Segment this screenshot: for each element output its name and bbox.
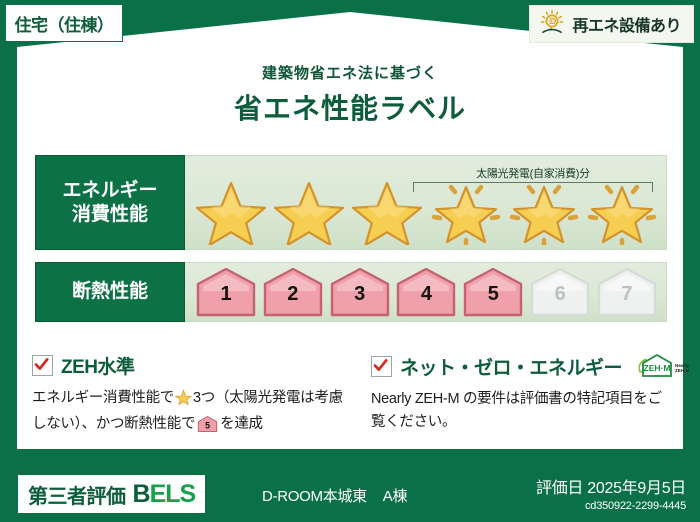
energy-label-line1: エネルギー — [62, 179, 157, 203]
insulation-level-6-number: 6 — [529, 284, 591, 304]
evaluation-code: cd350922-2299-4445 — [536, 500, 686, 512]
net-zero-heading: ネット・ゼロ・エネルギー ZEH·M Nearly ZEH-M — [371, 352, 670, 380]
bels-logo: BELS — [133, 480, 196, 509]
insulation-level-1-number: 1 — [195, 284, 257, 304]
building-unit: A棟 — [383, 488, 407, 505]
energy-performance-row: エネルギー 消費性能 太陽光発電(自家消費)分 — [35, 155, 667, 250]
insulation-level-2: 2 — [262, 267, 324, 317]
checkbox-checked-icon — [371, 356, 392, 377]
insulation-level-5: 5 — [462, 267, 524, 317]
insulation-level-7-number: 7 — [596, 284, 658, 304]
star-1 — [193, 173, 269, 245]
star-3 — [349, 173, 425, 245]
building-type-tag-label: 住宅（住棟） — [15, 11, 114, 36]
insulation-level-5-number: 5 — [462, 284, 524, 304]
inline-star-icon — [175, 393, 192, 409]
insulation-level-3: 3 — [329, 267, 391, 317]
building-name: D-ROOM本城東 — [262, 488, 367, 505]
zeh-m-logo-icon: ZEH·M Nearly ZEH-M — [635, 352, 689, 380]
insulation-label-line1: 断熱性能 — [72, 280, 148, 304]
energy-performance-label-box: エネルギー 消費性能 — [35, 155, 185, 250]
building-name-block: D-ROOM本城東A棟 — [262, 485, 407, 506]
star-4-solar — [428, 173, 504, 245]
insulation-performance-row: 断熱性能 1 2 — [35, 262, 667, 322]
insulation-level-4: 4 — [395, 267, 457, 317]
inline-insulation-badge-icon: 5 — [197, 415, 218, 441]
zeh-standard-title: ZEH水準 — [61, 352, 135, 379]
bels-logo-b: B — [133, 480, 150, 508]
insulation-level-6: 6 — [529, 267, 591, 317]
net-zero-title: ネット・ゼロ・エネルギー — [400, 353, 622, 380]
bels-logo-els: ELS — [150, 480, 196, 508]
bels-certification-box: 第三者評価 BELS — [18, 475, 205, 513]
insulation-performance-label-box: 断熱性能 — [35, 262, 185, 322]
net-zero-energy-note: ネット・ゼロ・エネルギー ZEH·M Nearly ZEH-M Nearly Z… — [351, 352, 670, 441]
notes-section: ZEH水準 エネルギー消費性能で3つ（太陽光発電は考慮しない）、かつ断熱性能で5… — [32, 352, 670, 441]
svg-text:ZEH-M: ZEH-M — [675, 368, 689, 373]
page-title: 省エネ性能ラベル — [0, 87, 700, 127]
insulation-level-1: 1 — [195, 267, 257, 317]
zeh-standard-note: ZEH水準 エネルギー消費性能で3つ（太陽光発電は考慮しない）、かつ断熱性能で5… — [32, 352, 351, 441]
checkbox-checked-icon — [32, 355, 53, 376]
title-block: 建築物省エネ法に基づく 省エネ性能ラベル — [0, 62, 700, 127]
bels-jp-label: 第三者評価 — [28, 480, 126, 509]
energy-star-rating — [193, 171, 660, 245]
building-type-tag: 住宅（住棟） — [5, 4, 123, 42]
insulation-rating-area: 1 2 3 — [185, 262, 667, 322]
insulation-level-list: 1 2 3 — [195, 267, 658, 317]
zeh-body-part3: を達成 — [220, 416, 263, 432]
svg-text:ZEH·M: ZEH·M — [644, 363, 671, 373]
zeh-body-part1: エネルギー消費性能で — [32, 390, 174, 406]
star-6-solar — [584, 173, 660, 245]
evaluation-date-label: 評価日 — [536, 480, 583, 497]
title-subtitle: 建築物省エネ法に基づく — [0, 62, 700, 83]
evaluation-date-line: 評価日 2025年9月5日 — [536, 474, 686, 498]
zeh-standard-heading: ZEH水準 — [32, 352, 351, 379]
insulation-level-7: 7 — [596, 267, 658, 317]
star-2 — [271, 173, 347, 245]
energy-label-line2: 消費性能 — [72, 203, 148, 227]
energy-performance-label: 住宅（住棟） 再エネ設備あり 建築 — [0, 0, 700, 522]
insulation-level-2-number: 2 — [262, 284, 324, 304]
renewable-badge-label: 再エネ設備あり — [572, 12, 681, 36]
insulation-level-4-number: 4 — [395, 284, 457, 304]
net-zero-body: Nearly ZEH-M の要件は評価書の特記項目をご覧ください。 — [371, 388, 670, 434]
renewable-energy-badge: 再エネ設備あり — [529, 5, 694, 43]
svg-text:5: 5 — [205, 421, 210, 431]
energy-rating-area: 太陽光発電(自家消費)分 — [185, 155, 667, 250]
solar-sun-icon — [539, 9, 565, 40]
evaluation-date-value: 2025年9月5日 — [587, 480, 686, 497]
evaluation-info: 評価日 2025年9月5日 cd350922-2299-4445 — [536, 474, 686, 512]
insulation-level-3-number: 3 — [329, 284, 391, 304]
star-5-solar — [506, 173, 582, 245]
zeh-standard-body: エネルギー消費性能で3つ（太陽光発電は考慮しない）、かつ断熱性能で5を達成 — [32, 387, 351, 441]
footer-bar: 第三者評価 BELS D-ROOM本城東A棟 評価日 2025年9月5日 cd3… — [0, 466, 700, 522]
